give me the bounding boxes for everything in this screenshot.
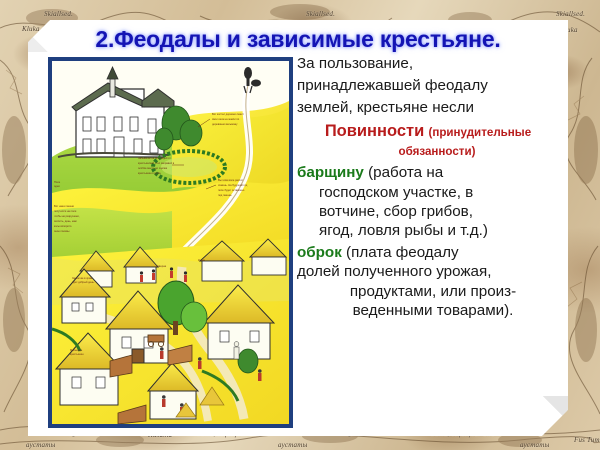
item-1-line-0: оброк (плата феодалу xyxy=(297,245,559,260)
svg-text:Вот наши пашни: Вот наши пашни xyxy=(54,204,75,208)
item-0-line-2: вотчине, сбор грибов, xyxy=(297,204,559,219)
svg-text:ячмень. На будущий год: ячмень. На будущий год xyxy=(218,183,248,187)
svg-text:одно: одно xyxy=(54,185,60,188)
map-label: Skiallsed. xyxy=(44,10,73,18)
svg-text:крестьянин: крестьянин xyxy=(70,353,84,356)
svg-text:крестьянин отруба.: крестьянин отруба. xyxy=(138,171,161,175)
svg-text:оное посевы: оное посевы xyxy=(54,230,69,233)
slide-canvas: Skiallsed. Kluka Skiallsed. Skiallsed. K… xyxy=(0,0,600,450)
duty-term: Повинности xyxy=(325,122,424,140)
svg-text:косы вспорото: косы вспорото xyxy=(54,225,72,228)
item-1-line-0-text: (плата феодалу xyxy=(342,244,459,261)
svg-text:Вот костел деревни лежит: Вот костел деревни лежит xyxy=(212,112,245,116)
svg-text:чтобы не разрушено,: чтобы не разрушено, xyxy=(54,214,80,218)
duty-gloss-line-2-wrap: обязанности) xyxy=(297,143,559,158)
svg-text:Вы этом воле растет: Вы этом воле растет xyxy=(218,178,244,182)
page-title: 2.Феодалы и зависимые крестьяне. xyxy=(28,26,568,53)
svg-text:крестьянский стол заправил в: крестьянский стол заправил в xyxy=(138,161,175,165)
item-0-term: барщину xyxy=(297,164,364,181)
svg-text:под пашню.: под пашню. xyxy=(218,194,232,197)
item-1-line-3: веденными товарами). xyxy=(297,303,559,318)
svg-text:идет добрый день.: идет добрый день. xyxy=(72,280,95,284)
map-label: аустаты xyxy=(26,441,55,449)
intro-line-2: принадлежавшей феодалу xyxy=(297,78,559,93)
intro-line-3: землей, крестьяне несли xyxy=(297,100,559,115)
svg-text:скопить, день, нам: скопить, день, нам xyxy=(54,220,77,223)
illustration-frame: Вот костел деревни лежит свои леса на зе… xyxy=(48,57,293,428)
map-label: аустаты xyxy=(278,441,307,449)
duty-heading: Повинности (принудительные xyxy=(297,123,559,140)
svg-text:Забывший на площадей от: Забывший на площадей от xyxy=(138,156,172,160)
svg-text:Зачем же в храм: Зачем же в храм xyxy=(72,276,92,280)
svg-text:особое место до сцепка: особое место до сцепка xyxy=(138,166,168,170)
svg-text:Поле: Поле xyxy=(54,180,61,184)
svg-text:Кузня: Кузня xyxy=(198,258,205,262)
intro-line-1: За пользование, xyxy=(297,56,559,71)
map-label: Skiallsed. xyxy=(306,10,335,18)
duty-gloss-line-2: обязанности) xyxy=(399,145,476,158)
svg-text:Таверна: Таверна xyxy=(156,264,167,268)
item-0-line-1: господском участке, в xyxy=(297,185,559,200)
item-1-line-1: долей полученного урожая, xyxy=(297,264,559,279)
svg-text:получится на поля: получится на поля xyxy=(54,210,77,213)
body-text-column: За пользование, принадлежавшей феодалу з… xyxy=(297,56,559,322)
medieval-manor-illustration: Вот костел деревни лежит свои леса на зе… xyxy=(52,61,289,424)
item-0-line-0-text: (работа на xyxy=(364,164,443,181)
map-label: аустаты xyxy=(520,441,549,449)
svg-text:Мельница: Мельница xyxy=(70,348,83,352)
duty-gloss-line-1: (принудительные xyxy=(428,126,531,139)
svg-text:свои леса на земли по: свои леса на земли по xyxy=(212,118,240,121)
item-1-term: оброк xyxy=(297,244,342,261)
map-label: Fus Tuma xyxy=(574,436,600,444)
map-label: Skiallsed. xyxy=(556,10,585,18)
svg-text:деревянно вельможу: деревянно вельможу xyxy=(212,123,238,126)
item-0-line-0: барщину (работа на xyxy=(297,165,559,180)
svg-text:поле будет оставлено: поле будет оставлено xyxy=(218,188,245,192)
item-0-line-3: ягод, ловля рыбы и т.д.) xyxy=(297,223,559,238)
item-1-line-2: продуктами, или произ- xyxy=(297,284,559,299)
